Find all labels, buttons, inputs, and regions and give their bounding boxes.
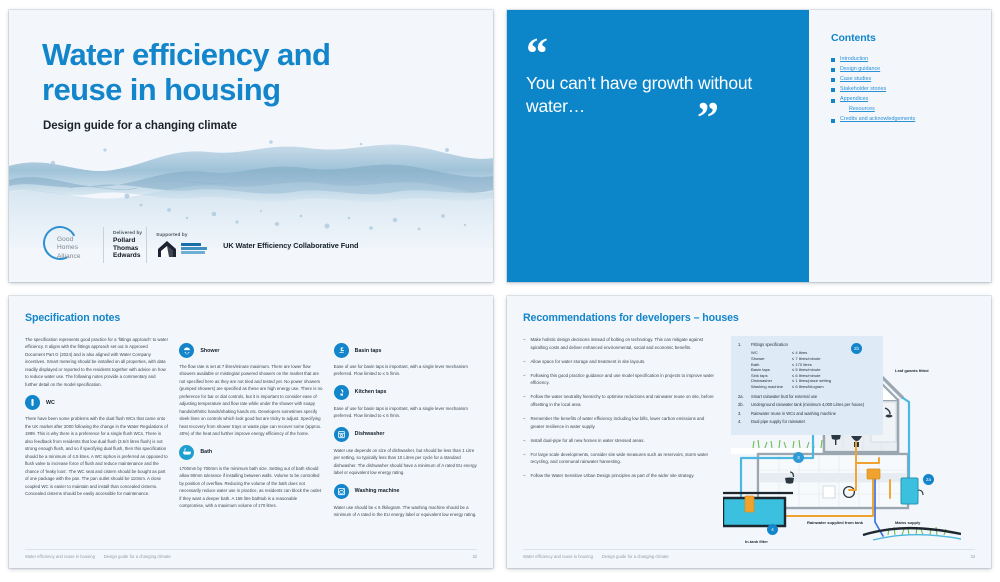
bullet-square-icon [831,68,835,72]
dishwasher-icon [334,427,349,442]
fittings-name: Sink taps [751,373,792,378]
toc-item-4[interactable]: Appendices [831,96,973,102]
gha-line-3: Alliance [57,253,81,261]
spec-item-1-number: 1. [738,342,747,348]
quote-panel: “ You can’t have growth without water… ” [507,10,809,282]
fittings-name: Bath [751,362,792,367]
bullet-dash-icon: – [523,472,525,480]
bullet-square-icon [831,88,835,92]
page-number: 33 [970,554,975,559]
callout-badge-filter: 4 [767,524,778,535]
fittings-name: WC [751,350,792,355]
label-in-tank-filter: In-tank filter [745,539,768,544]
spec-column-1: The specification represents good practi… [25,336,168,525]
fittings-value: ≤ 5 litres/minute [792,367,821,372]
contents-panel: Contents IntroductionDesign guidanceCase… [809,10,991,282]
spec-section-body: The flow rate is set at 7 litres/minute … [179,363,322,438]
spec-section-body: Ease of use for basin taps is important,… [334,363,477,378]
spec-columns: The specification represents good practi… [25,336,477,525]
recommendation-text: For large scale developments, consider s… [530,451,719,466]
spec-item-2a-number: 2a. [738,394,747,400]
slide-footer: Water efficiency and reuse in housing De… [25,549,477,559]
recommendation-item: –Following this good practice guidance a… [523,372,719,387]
spec-item-1-label: Fittings specification [751,342,788,348]
figure-area: 2b 3 2a 4 Leaf guards fitted In-tank fil… [731,336,975,487]
label-rainwater-supplied: Rainwater supplied from tank [807,520,863,525]
spec-section-title: WC [46,400,55,406]
spec-section-header: Washing machine [334,484,477,499]
spec-section-body: Water use should be ≤ 6 l/kilogram. The … [334,504,477,519]
toc-item-2[interactable]: Case studies [831,76,973,82]
toc-item-6[interactable]: Credits and acknowledgements [831,116,973,122]
delivered-by-block: Delivered by Pollard Thomas Edwards [113,230,142,261]
recommendations-body: –Make holistic design decisions instead … [523,336,975,487]
recommendation-item: –Follow the Water Sensitive Urban Design… [523,472,719,480]
toc-item-1[interactable]: Design guidance [831,66,973,72]
spec-section-header: Kitchen taps [334,385,477,400]
spec-sections-col2: ShowerThe flow rate is set at 7 litres/m… [179,343,322,510]
supported-by-caption: Supported by [156,232,207,237]
spec-item-2b-label: Underground rainwater tank (minimum 4,00… [751,402,864,408]
spec-section-header: Basin taps [334,343,477,358]
slide-deck: Water efficiency and reuse in housing De… [0,0,1000,582]
toc-item-label: Introduction [840,56,868,62]
footer-title: Water efficiency and reuse in housing [523,554,593,559]
callout-kitchen-label: 3 [797,455,799,460]
spec-item-3-label: Rainwater reuse in WCs and washing machi… [751,411,836,417]
recommendation-item: –Allow space for water storage and treat… [523,358,719,366]
callout-butt-label: 2a [926,477,931,482]
spec-section-header: Dishwasher [334,427,477,442]
bullet-dash-icon: – [523,415,525,430]
slide-specification-notes[interactable]: Specification notes The specification re… [9,296,493,568]
recommendation-item: –For large scale developments, consider … [523,451,719,466]
supported-by-block: Supported by [156,232,207,259]
cover-subtitle: Design guide for a changing climate [43,120,237,132]
fittings-name: Shower [751,356,792,361]
recommendations-list: –Make holistic design decisions instead … [523,336,719,487]
spec-section-title: Washing machine [355,488,400,494]
spec-section-header: Bath [179,445,322,460]
pollard-thomas-edwards-logo: Pollard Thomas Edwards [113,237,142,261]
spec-item-2a-label: Smart rainwater butt for external use [751,394,817,400]
cover-logo-strip: Good Homes Alliance Delivered by Pollard… [41,224,469,266]
recommendation-item: –Make holistic design decisions instead … [523,336,719,351]
slide-quote-contents[interactable]: “ You can’t have growth without water… ”… [507,10,991,282]
quote-open-icon: “ [526,32,548,76]
spec-item-4: 4. Dual pipe supply for rainwater [738,419,876,425]
fittings-row: Bath≤ 170 litres [751,362,876,367]
spec-column-2: ShowerThe flow rate is set at 7 litres/m… [179,336,322,525]
bullet-square-icon [831,58,835,62]
toc-item-3[interactable]: Stakeholder stories [831,86,973,92]
fittings-row: Dishwasher≤ 1 litres/place setting [751,378,876,383]
shower-icon [179,343,194,358]
delivered-by-caption: Delivered by [113,230,142,235]
fittings-name: Dishwasher [751,378,792,383]
callout-badge-roof: 2b [851,343,862,354]
spec-item-3: 3. Rainwater reuse in WCs and washing ma… [738,411,876,417]
gha-line-1: Good [57,236,81,244]
recommendation-item: –Remember the benefits of water efficien… [523,415,719,430]
bullet-square-icon [831,78,835,82]
contents-title: Contents [831,32,973,44]
good-homes-alliance-logo: Good Homes Alliance [41,225,99,265]
contents-list: IntroductionDesign guidanceCase studiesS… [831,56,973,123]
fittings-row: Shower≤ 7 litres/minute [751,356,876,361]
recommendation-text: Following this good practice guidance an… [530,372,719,387]
bath-icon [179,445,194,460]
spec-section-body: Ease of use for basin taps is important,… [334,405,477,420]
bullet-square-icon [831,119,835,123]
toc-item-label: Design guidance [840,66,880,72]
recommendation-text: Install dual-pipe for all new homes in w… [530,437,644,445]
spec-section-body: Water use depends on size of dishwasher,… [334,447,477,477]
spec-sections-col3: Basin tapsEase of use for basin taps is … [334,343,477,519]
recommendation-text: Follow the Water Sensitive Urban Design … [530,472,694,480]
callout-roof-label: 2b [854,346,859,351]
footer-subtitle: Design guide for a changing climate [104,554,171,559]
page-title: Recommendations for developers – houses [523,312,975,324]
bullet-square-icon [831,99,835,103]
basin-tap-icon [334,343,349,358]
toc-item-label: Case studies [840,76,871,82]
recommendation-item: –Install dual-pipe for all new homes in … [523,437,719,445]
toc-item-0[interactable]: Introduction [831,56,973,62]
recommendation-text: Make holistic design decisions instead o… [530,336,719,351]
washing-machine-icon [334,484,349,499]
gha-line-2: Homes [57,244,81,252]
fittings-table: WC≤ 4 litresShower≤ 7 litres/minuteBath≤… [751,350,876,389]
quote-close-icon: ” [697,96,719,140]
callout-filter-label: 4 [771,527,773,532]
spec-section-title: Kitchen taps [355,389,387,395]
spec-section-body: 1700mm by 700mm is the minimum bath size… [179,465,322,510]
fittings-row: Washing machine≤ 6 litres/kilogram [751,384,876,389]
fittings-name: Washing machine [751,384,792,389]
toc-item-label: Appendices [840,96,868,102]
enabling-logo [156,239,207,259]
callout-badge-kitchen: 3 [793,452,804,463]
logo-divider-2 [146,227,147,263]
spec-column-3: Basin tapsEase of use for basin taps is … [334,336,477,525]
spec-section-header: WC [25,395,168,410]
bullet-dash-icon: – [523,358,525,366]
quote-text: You can’t have growth without water… [526,72,788,118]
fittings-value: ≤ 6 litres/minute [792,373,821,378]
recommendation-text: Allow space for water storage and treatm… [530,358,645,366]
spec-section-title: Dishwasher [355,431,385,437]
cover-title-line-2: reuse in housing [42,73,442,108]
fittings-row: Sink taps≤ 6 litres/minute [751,373,876,378]
bullet-dash-icon: – [523,437,525,445]
spec-section-title: Shower [200,348,219,354]
recommendation-text: Remember the benefits of water efficienc… [530,415,719,430]
recommendation-text: Follow the water neutrality hierarchy to… [530,393,719,408]
logo-divider-1 [103,227,104,263]
fittings-name: Basin taps [751,367,792,372]
bullet-dash-icon: – [523,372,525,387]
toc-item-label: Credits and acknowledgements [840,116,915,122]
toc-item-5[interactable]: Resources [831,106,973,112]
slide-recommendations[interactable]: Recommendations for developers – houses … [507,296,991,568]
spec-section-header: Shower [179,343,322,358]
spec-item-2b-number: 2b. [738,402,747,408]
recommendation-item: –Follow the water neutrality hierarchy t… [523,393,719,408]
spec-intro: The specification represents good practi… [25,336,168,388]
fittings-value: ≤ 4 litres [792,350,807,355]
cover-title-line-1: Water efficiency and [42,38,442,73]
fittings-value: ≤ 7 litres/minute [792,356,821,361]
fittings-row: Basin taps≤ 5 litres/minute [751,367,876,372]
spec-section-body: There have been some problems with the d… [25,415,168,497]
spec-item-4-label: Dual pipe supply for rainwater [751,419,805,425]
spec-item-3-number: 3. [738,411,747,417]
page-number: 32 [472,554,477,559]
fittings-value: ≤ 6 litres/kilogram [792,384,824,389]
toc-item-label: Stakeholder stories [840,86,886,92]
fund-name: UK Water Efficiency Collaborative Fund [223,241,358,250]
house-mark-icon [156,239,178,259]
fittings-value: ≤ 1 litres/place setting [792,378,831,383]
label-leaf-guards: Leaf guards fitted [895,368,929,373]
spec-sections-col1: WCThere have been some problems with the… [25,395,168,497]
spec-section-title: Basin taps [355,348,382,354]
footer-title: Water efficiency and reuse in housing [25,554,95,559]
callout-badge-butt: 2a [923,474,934,485]
spec-item-2a: 2a. Smart rainwater butt for external us… [738,394,876,400]
cover-title: Water efficiency and reuse in housing [42,38,442,107]
label-mains-supply: Mains supply [895,520,920,525]
spec-section-title: Bath [200,449,212,455]
bullet-dash-icon: – [523,451,525,466]
spec-item-2b: 2b. Underground rainwater tank (minimum … [738,402,876,408]
bullet-dash-icon: – [523,393,525,408]
wc-icon [25,395,40,410]
toc-item-label: Resources [849,106,875,112]
bullet-dash-icon: – [523,336,525,351]
footer-subtitle: Design guide for a changing climate [602,554,669,559]
fittings-value: ≤ 170 litres [792,362,812,367]
page-title: Specification notes [25,312,477,324]
spec-item-4-number: 4. [738,419,747,425]
kitchen-tap-icon [334,385,349,400]
slide-cover[interactable]: Water efficiency and reuse in housing De… [9,10,493,282]
slide-footer: Water efficiency and reuse in housing De… [523,549,975,559]
